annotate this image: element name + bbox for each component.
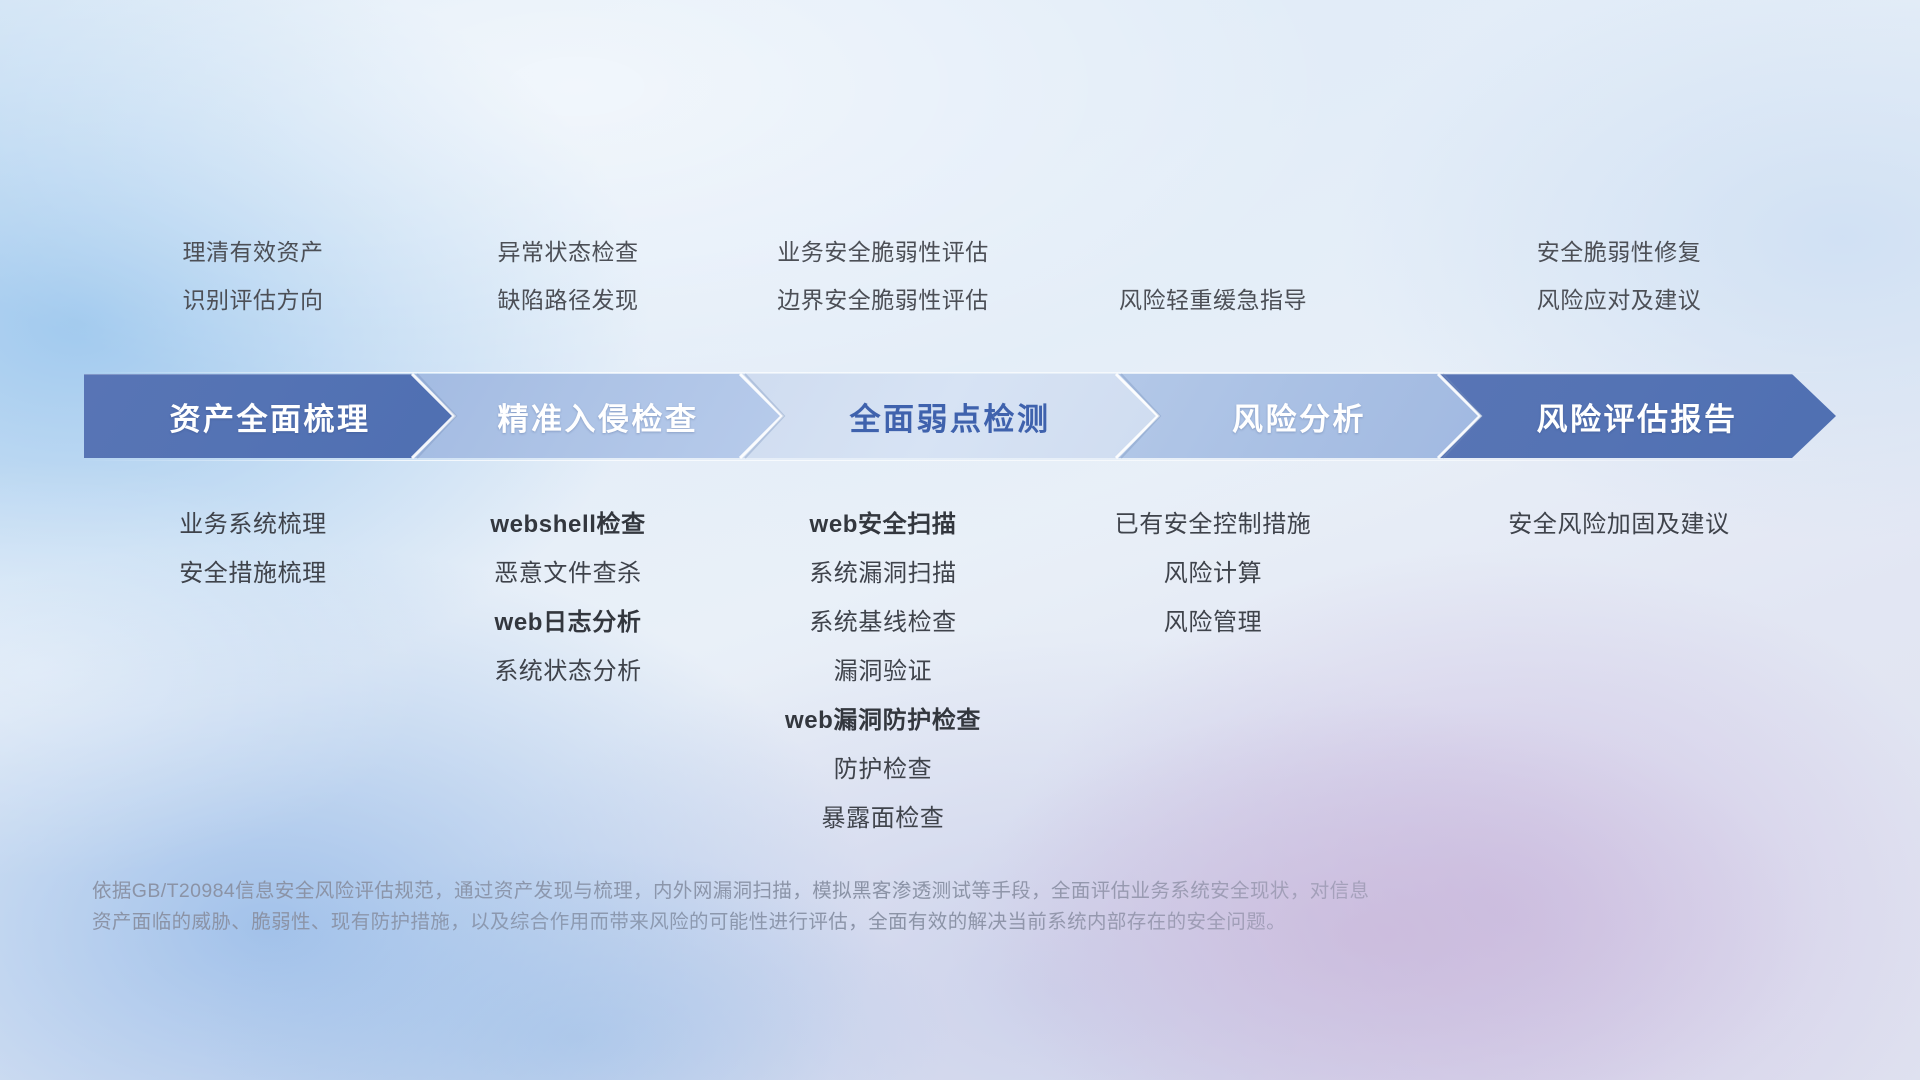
note-line: 业务安全脆弱性评估 <box>718 228 1048 276</box>
top-notes-risk-report: 安全脆弱性修复 风险应对及建议 <box>1378 228 1860 324</box>
note-line: 安全脆弱性修复 <box>1378 228 1860 276</box>
list-item: 风险计算 <box>1048 549 1378 598</box>
top-notes-weakness-detection: 业务安全脆弱性评估 边界安全脆弱性评估 <box>718 228 1048 324</box>
bottom-list-intrusion-check: webshell检查 恶意文件查杀 web日志分析 系统状态分析 <box>418 500 718 843</box>
bottom-list-weakness-detection: web安全扫描 系统漏洞扫描 系统基线检查 漏洞验证 web漏洞防护检查 防护检… <box>718 500 1048 843</box>
note-spacer <box>1048 228 1378 276</box>
note-line: 边界安全脆弱性评估 <box>718 276 1048 324</box>
note-line: 异常状态检查 <box>418 228 718 276</box>
stage-chevron-intrusion-check[interactable]: 精准入侵检查 <box>412 374 784 458</box>
list-item: 恶意文件查杀 <box>418 549 718 598</box>
band-top-highlight <box>78 372 1842 373</box>
stage-chevron-weakness-detection[interactable]: 全面弱点检测 <box>740 374 1160 458</box>
process-chevron-band: 资产全面梳理 精准入侵检查 全面弱点检测 风险分析 风险评估报告 <box>84 374 1836 458</box>
slide-canvas: 理清有效资产 识别评估方向 异常状态检查 缺陷路径发现 业务安全脆弱性评估 边界… <box>0 0 1920 1080</box>
list-item: 暴露面检查 <box>718 794 1048 843</box>
bottom-list-asset-inventory: 业务系统梳理 安全措施梳理 <box>88 500 418 843</box>
band-bottom-highlight <box>78 460 1842 461</box>
bottom-lists-row: 业务系统梳理 安全措施梳理 webshell检查 恶意文件查杀 web日志分析 … <box>88 500 1860 843</box>
bottom-list-risk-report: 安全风险加固及建议 <box>1378 500 1860 843</box>
stage-chevron-risk-analysis[interactable]: 风险分析 <box>1116 374 1482 458</box>
list-item: web漏洞防护检查 <box>718 696 1048 745</box>
top-notes-asset-inventory: 理清有效资产 识别评估方向 <box>88 228 418 324</box>
list-item: 已有安全控制措施 <box>1048 500 1378 549</box>
stage-label: 风险评估报告 <box>1537 394 1738 439</box>
list-item: web安全扫描 <box>718 500 1048 549</box>
note-line: 风险应对及建议 <box>1378 276 1860 324</box>
stage-chevron-risk-report[interactable]: 风险评估报告 <box>1438 374 1836 458</box>
list-item: 风险管理 <box>1048 598 1378 647</box>
list-item: 漏洞验证 <box>718 647 1048 696</box>
note-line: 理清有效资产 <box>88 228 418 276</box>
note-line: 风险轻重缓急指导 <box>1048 276 1378 324</box>
footer-line-2: 资产面临的威胁、脆弱性、现有防护措施，以及综合作用而带来风险的可能性进行评估，全… <box>92 907 1622 938</box>
list-item: 业务系统梳理 <box>88 500 418 549</box>
list-item: 防护检查 <box>718 745 1048 794</box>
list-item: 安全措施梳理 <box>88 549 418 598</box>
list-item: webshell检查 <box>418 500 718 549</box>
list-item: web日志分析 <box>418 598 718 647</box>
note-line: 识别评估方向 <box>88 276 418 324</box>
list-item: 系统基线检查 <box>718 598 1048 647</box>
list-item: 系统漏洞扫描 <box>718 549 1048 598</box>
stage-label: 全面弱点检测 <box>850 394 1051 439</box>
list-item: 安全风险加固及建议 <box>1378 500 1860 549</box>
stage-label: 资产全面梳理 <box>170 394 371 439</box>
note-line: 缺陷路径发现 <box>418 276 718 324</box>
stage-label: 风险分析 <box>1232 394 1366 439</box>
bottom-list-risk-analysis: 已有安全控制措施 风险计算 风险管理 <box>1048 500 1378 843</box>
top-notes-row: 理清有效资产 识别评估方向 异常状态检查 缺陷路径发现 业务安全脆弱性评估 边界… <box>88 228 1860 324</box>
stage-label: 精准入侵检查 <box>498 394 699 439</box>
footer-line-1: 依据GB/T20984信息安全风险评估规范，通过资产发现与梳理，内外网漏洞扫描，… <box>92 876 1622 907</box>
top-notes-intrusion-check: 异常状态检查 缺陷路径发现 <box>418 228 718 324</box>
top-notes-risk-analysis: 风险轻重缓急指导 <box>1048 228 1378 324</box>
stage-chevron-asset-inventory[interactable]: 资产全面梳理 <box>84 374 456 458</box>
footer-description: 依据GB/T20984信息安全风险评估规范，通过资产发现与梳理，内外网漏洞扫描，… <box>92 876 1622 938</box>
list-item: 系统状态分析 <box>418 647 718 696</box>
